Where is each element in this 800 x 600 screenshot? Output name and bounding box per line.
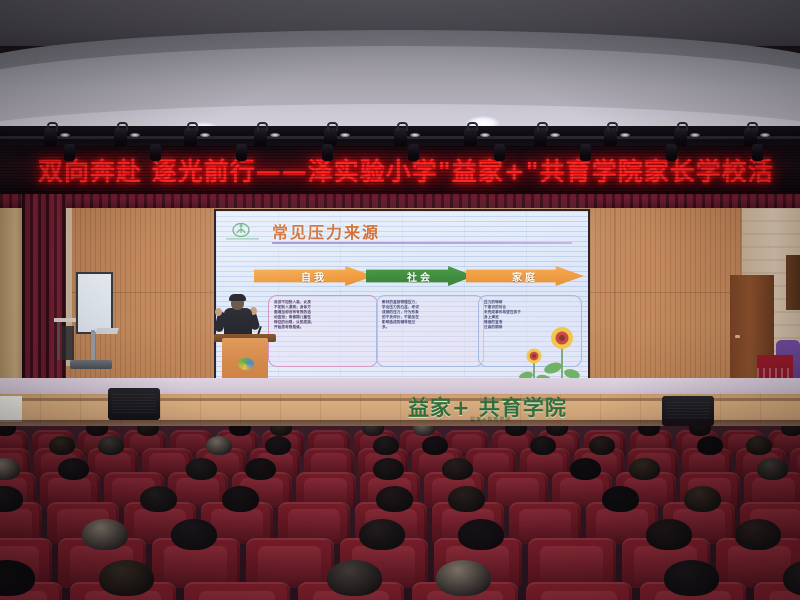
banner-rigging-clamp (150, 144, 161, 161)
banner-rigging-clamp (322, 144, 333, 161)
audience-member-head (222, 486, 259, 512)
seat-cushion (496, 478, 539, 505)
truss-lamp-glow (270, 133, 280, 137)
audience-member-head (422, 436, 448, 455)
audience-member-head (99, 560, 154, 596)
seat-cushion (176, 478, 219, 505)
side-chair (62, 326, 74, 360)
banner-rigging-clamp (64, 144, 75, 161)
presentation-slide: 常见压力来源 自我 社会 家庭 男孩不如别人高，女孩不如别人漂亮；身体方面增加却… (216, 211, 588, 386)
truss-spotlight (464, 128, 477, 148)
seat-cushion (164, 546, 227, 583)
led-banner: 双向奔赴 逐光前行——泽实验小学"益家+"共育学院家长学校活 (0, 146, 800, 194)
podium-emblem-icon (238, 358, 254, 370)
audience-member-head (602, 486, 639, 512)
audience-area (0, 426, 800, 600)
audience-member-head (186, 458, 217, 480)
seat-cushion (288, 509, 340, 540)
audience-member-head (140, 486, 177, 512)
audience-member-head (327, 560, 382, 596)
seat-cushion (560, 478, 603, 505)
seat-cushion (541, 591, 617, 600)
seat-cushion (211, 509, 263, 540)
monitor-right-grille (666, 402, 710, 420)
speaker-left-hand (215, 308, 222, 316)
seat-cushion (540, 546, 603, 583)
audience-member-head (171, 519, 217, 550)
monitor-left-grille (112, 394, 156, 414)
audience-member-head (530, 436, 556, 455)
projection-screen: 常见压力来源 自我 社会 家庭 男孩不如别人高，女孩不如别人漂亮；身体方面增加却… (214, 209, 590, 388)
auditorium-lecture-photo: 双向奔赴 逐光前行——泽实验小学"益家+"共育学院家长学校活 常见压力来源 自我… (0, 0, 800, 600)
audience-member-head (373, 458, 404, 480)
screen-glare (216, 211, 588, 386)
audience-member-head (49, 436, 75, 455)
audience-member-head (757, 458, 788, 480)
truss-lamp-glow (60, 133, 70, 137)
audience-member-head (684, 486, 721, 512)
seat-cushion (752, 478, 795, 505)
truss-lamp-glow (410, 133, 420, 137)
truss-lamp-glow (760, 133, 770, 137)
audience-member-head (781, 426, 800, 436)
truss-spotlight (254, 128, 267, 148)
white-equipment-case (0, 396, 22, 422)
truss-spotlight (114, 128, 127, 148)
right-sideboard (786, 255, 800, 310)
truss-lamp-glow (550, 133, 560, 137)
audience-member-head (589, 436, 615, 455)
audience-member-head (570, 458, 601, 480)
audience-member-head (629, 458, 660, 480)
left-curtain-folds (22, 192, 66, 397)
mobile-whiteboard (76, 272, 113, 334)
audience-member-head (82, 519, 128, 550)
audience-member-head (448, 486, 485, 512)
audience-member-head (265, 436, 291, 455)
audience-member-head (359, 519, 405, 550)
whiteboard-stand (84, 330, 102, 364)
seat-cushion (258, 546, 321, 583)
audience-member-head (735, 519, 781, 550)
seat-cushion (0, 509, 32, 540)
audience-member-head (664, 560, 719, 596)
truss-lamp-glow (340, 133, 350, 137)
truss-lamp-glow (480, 133, 490, 137)
banner-rigging-clamp (408, 144, 419, 161)
led-pixel-scanlines (0, 146, 800, 194)
banner-rigging-clamp (666, 144, 677, 161)
truss-lamp-glow (690, 133, 700, 137)
banner-rigging-clamp (236, 144, 247, 161)
banner-rigging-clamp (752, 144, 763, 161)
seat-cushion (728, 546, 791, 583)
audience-member-head (442, 458, 473, 480)
audience-member-head (245, 458, 276, 480)
truss-spotlight (534, 128, 547, 148)
seat-cushion (596, 509, 648, 540)
door-handle-icon (735, 335, 740, 338)
seat-cushion (48, 478, 91, 505)
audience-member-head (98, 436, 124, 455)
truss-spotlight (394, 128, 407, 148)
audience-member-head (373, 436, 399, 455)
desk-leg (57, 322, 60, 360)
banner-rigging-clamp (494, 144, 505, 161)
audience-member-head (697, 436, 723, 455)
truss-lamp-glow (130, 133, 140, 137)
audience-member-head (458, 519, 504, 550)
truss-spotlight (44, 128, 57, 148)
seat-cushion (519, 509, 571, 540)
audience-member-head (206, 436, 232, 455)
truss-lamp-glow (620, 133, 630, 137)
audience-member-head (58, 458, 89, 480)
whiteboard-base (70, 360, 112, 369)
truss-spotlight (604, 128, 617, 148)
speaker-cap (229, 294, 246, 301)
seat-cushion (199, 591, 275, 600)
truss-lamp-glow (200, 133, 210, 137)
audience-member-head (436, 560, 491, 596)
banner-rigging-clamp (580, 144, 591, 161)
truss-spotlight (184, 128, 197, 148)
audience-member-head (376, 486, 413, 512)
audience-member-head (746, 436, 772, 455)
seat-cushion (304, 478, 347, 505)
audience-member-head (646, 519, 692, 550)
